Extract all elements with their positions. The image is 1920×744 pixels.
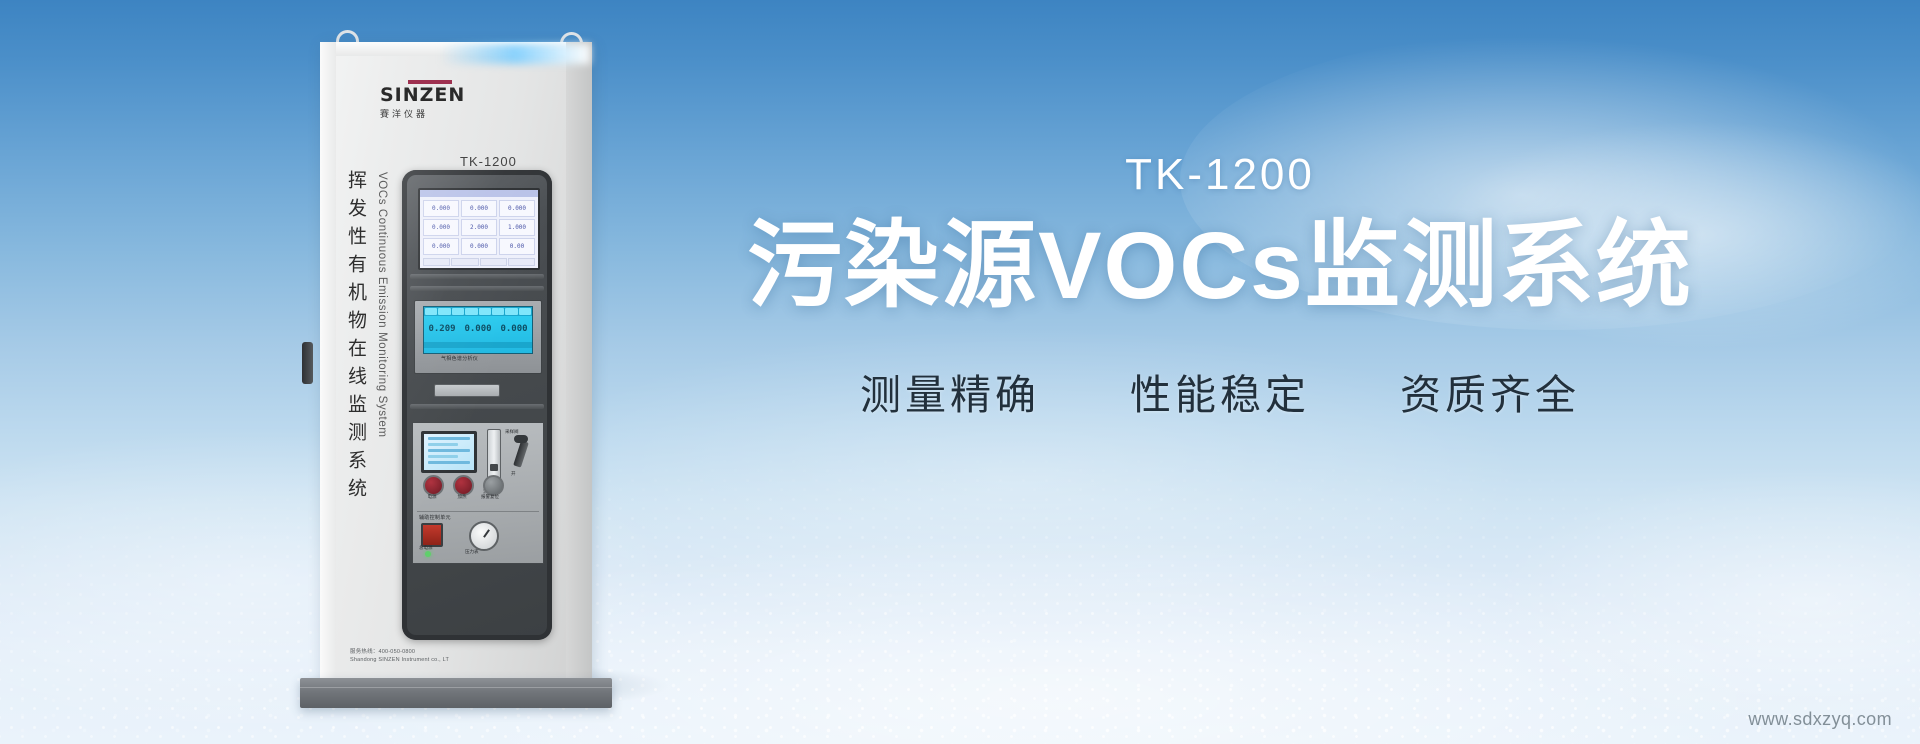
lcd-bottom-bar — [424, 342, 532, 348]
tagline-item: 性能稳定 — [1130, 361, 1310, 421]
hmi-cell: 0.000 — [499, 200, 535, 217]
tagline-item: 资质齐全 — [1400, 361, 1580, 421]
hmi-cell: 0.000 — [423, 200, 459, 217]
mini-screen-line — [428, 437, 470, 440]
module-slot — [434, 384, 500, 397]
bay-rail — [410, 274, 544, 279]
tagline-row: 测量精确 性能稳定 资质齐全 — [660, 361, 1780, 421]
heater-knob-label: 加热 — [451, 494, 473, 500]
lcd-status-bar — [424, 307, 532, 316]
rotameter-float-icon — [490, 464, 498, 471]
hmi-cell: 1.000 — [499, 219, 535, 236]
tagline-item: 测量精确 — [860, 361, 1040, 421]
cabinet-vertical-en-text: VOCs Continuous Emission Monitoring Syst… — [376, 172, 388, 438]
hmi-footer-button[interactable] — [480, 258, 507, 266]
bay-rail — [410, 404, 544, 409]
cabinet-right-edge — [566, 42, 592, 680]
hmi-value-grid: 0.000 0.000 0.000 0.000 2.000 1.000 0.00… — [420, 197, 538, 258]
cabinet-left-edge — [320, 42, 336, 680]
power-knob[interactable] — [423, 475, 444, 496]
sampling-valve-lever[interactable] — [513, 440, 529, 467]
brand-name-text: SINZEN — [380, 86, 470, 105]
mini-screen-line — [428, 461, 470, 464]
panel-section-label: 辅助控制单元 — [419, 514, 451, 521]
site-watermark: www.sdxzyq.com — [1748, 709, 1892, 730]
brand-name-cn: 賽洋仪器 — [380, 107, 470, 120]
hmi-footer-button[interactable] — [423, 258, 450, 266]
page-title: 污染源VOCs监测系统 — [660, 216, 1780, 317]
heater-knob[interactable] — [453, 475, 474, 496]
hmi-cell: 0.000 — [423, 238, 459, 255]
cabinet-body: SINZEN 賽洋仪器 TK-1200 挥发性有机物在线监测系统 VOCs Co… — [320, 42, 592, 680]
hmi-cell: 2.000 — [461, 219, 497, 236]
hmi-cell: 0.000 — [461, 200, 497, 217]
analyzer-cabinet: SINZEN 賽洋仪器 TK-1200 挥发性有机物在线监测系统 VOCs Co… — [320, 30, 630, 720]
cabinet-door-handle[interactable] — [302, 342, 313, 384]
sampling-valve-knob-icon[interactable] — [514, 435, 528, 443]
mini-screen-line — [428, 443, 458, 446]
lcd-value: 0.000 — [500, 324, 527, 334]
banner-copy: TK-1200 污染源VOCs监测系统 测量精确 性能稳定 资质齐全 — [660, 150, 1780, 421]
hmi-cell: 0.00 — [499, 238, 535, 255]
lcd-values: 0.209 0.000 0.000 — [424, 316, 532, 342]
service-hotline: 服务热线：400-050-0800 — [350, 648, 550, 656]
controller-mini-screen[interactable] — [421, 431, 477, 473]
hmi-title-bar — [420, 190, 538, 197]
main-power-rocker-switch[interactable] — [421, 523, 443, 547]
mini-screen-line — [428, 449, 470, 452]
control-panel: 流量计 采样阀 开 电源 加热 报警复位 辅助控制单元 总电源 — [412, 422, 544, 564]
lcd-value: 0.209 — [428, 324, 455, 334]
panel-divider — [417, 511, 539, 512]
base-highlight-line — [300, 687, 612, 688]
particle-mesh-overlay — [0, 494, 1920, 744]
pressure-gauge-label: 压力表 — [465, 549, 479, 555]
analyzer-lcd-display: 0.209 0.000 0.000 — [423, 306, 533, 354]
product-banner: SINZEN 賽洋仪器 TK-1200 挥发性有机物在线监测系统 VOCs Co… — [0, 0, 1920, 744]
hmi-footer-buttons[interactable] — [420, 258, 538, 268]
cabinet-footnote: 服务热线：400-050-0800 Shandong SINZEN Instru… — [350, 648, 550, 665]
valve-open-close-label: 开 — [511, 471, 516, 477]
product-model: TK-1200 — [660, 150, 1780, 200]
hmi-cell: 0.000 — [461, 238, 497, 255]
alarm-reset-knob-label: 报警复位 — [479, 494, 501, 500]
alarm-reset-knob[interactable] — [483, 475, 504, 496]
hmi-touchscreen[interactable]: 0.000 0.000 0.000 0.000 2.000 1.000 0.00… — [418, 188, 540, 270]
analyzer-caption: 气相色谱分析仪 — [441, 355, 478, 362]
pressure-gauge — [469, 521, 499, 551]
lcd-value: 0.000 — [464, 324, 491, 334]
company-name-en: Shandong SINZEN Instrument co., LT — [350, 656, 550, 664]
instrument-bay: 0.000 0.000 0.000 0.000 2.000 1.000 0.00… — [402, 170, 552, 640]
mini-screen-line — [428, 455, 458, 458]
cabinet-base-plinth — [300, 678, 612, 708]
main-power-label: 总电源 — [419, 545, 433, 551]
hmi-footer-button[interactable] — [508, 258, 535, 266]
hmi-cell: 0.000 — [423, 219, 459, 236]
status-led-icon — [425, 551, 431, 557]
cabinet-vertical-cn-text: 挥发性有机物在线监测系统 — [346, 170, 365, 506]
gas-analyzer-unit: 0.209 0.000 0.000 气相色谱分析仪 — [414, 300, 542, 374]
cabinet-top-highlight — [440, 44, 590, 64]
hmi-footer-button[interactable] — [451, 258, 478, 266]
cabinet-brand-logo: SINZEN 賽洋仪器 — [380, 80, 470, 120]
power-knob-label: 电源 — [421, 494, 443, 500]
cabinet-model-plate: TK-1200 — [460, 154, 517, 169]
bay-rail — [410, 286, 544, 291]
